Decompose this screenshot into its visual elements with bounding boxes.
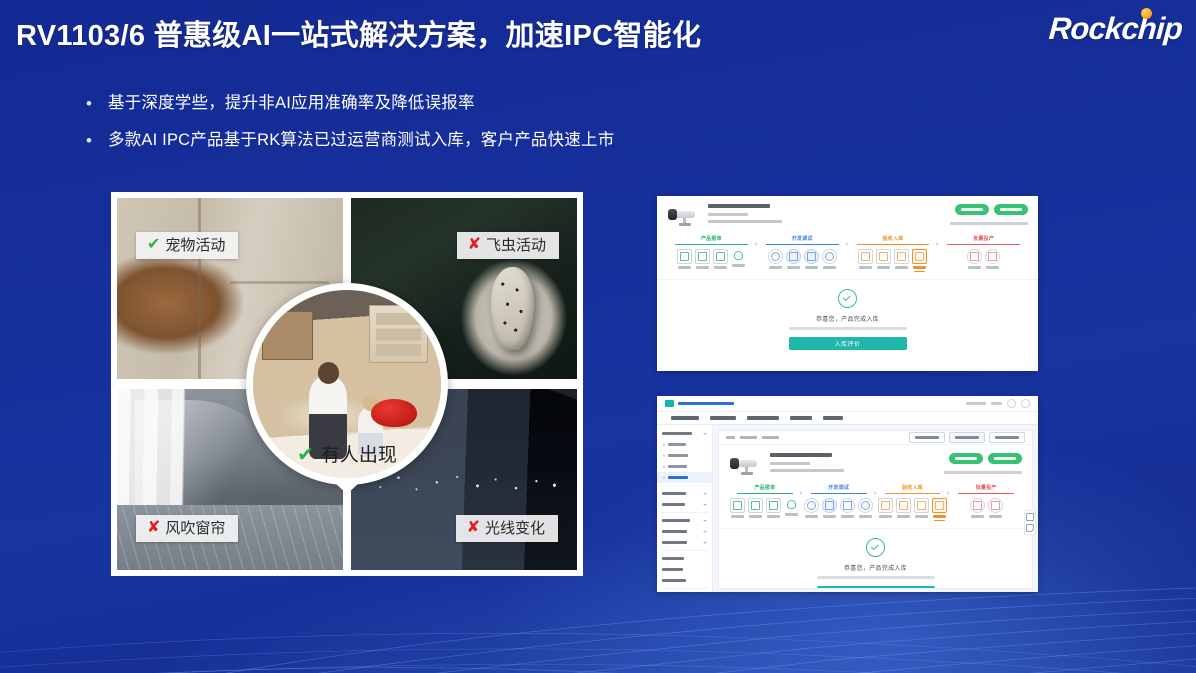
product-actions <box>938 453 1022 477</box>
label-text: 风吹窗帘 <box>165 521 225 536</box>
status-title: 恭喜您，产品完成入库 <box>844 563 907 572</box>
status-subtitle <box>789 327 907 330</box>
circle-notch <box>335 483 359 494</box>
sidebar-group-operations[interactable] <box>657 488 712 499</box>
breadcrumb-storage-center[interactable] <box>740 436 757 439</box>
center-highlight-circle: ✔ 有人出现 <box>246 283 448 485</box>
step-label: 产品报审 <box>737 484 793 494</box>
floating-tools[interactable] <box>1024 510 1036 535</box>
icon-product-storage[interactable] <box>932 498 947 521</box>
sidebar-group-device-service[interactable] <box>657 515 712 526</box>
scene-collage: ✔ 宠物活动 ✘ 飞虫活动 ✘ 风吹窗帘 ✘ 光线变化 <box>111 192 583 576</box>
step-label: 开发调试 <box>811 484 867 494</box>
screenshot-console[interactable]: 产品报审 开发调试 <box>657 396 1038 592</box>
product-header <box>657 196 1038 232</box>
nav-item-3[interactable] <box>790 416 812 419</box>
icon-sample-appraisal[interactable] <box>766 498 781 518</box>
bullet-text: 基于深度学些，提升非AI应用准确率及降低误报率 <box>108 93 475 114</box>
icon-joint-acceptance[interactable] <box>858 249 873 272</box>
step-mass-production[interactable]: 批量投产 <box>938 235 1029 272</box>
status-block: 恭喜您，产品完成入库 入库评价 <box>657 279 1038 350</box>
icon-barcode-apply[interactable] <box>970 498 985 518</box>
product-meta <box>701 204 944 228</box>
console-topbar <box>657 396 1038 412</box>
sidebar-group-data[interactable] <box>657 564 712 575</box>
nav-item-2[interactable] <box>747 416 779 419</box>
product-meta <box>763 453 938 477</box>
workflow-steps: 产品报审 开发调试 <box>657 235 1038 272</box>
sidebar-group-content[interactable] <box>657 553 712 564</box>
step-label: 验收入库 <box>857 235 930 245</box>
sidebar-group-statistics[interactable] <box>657 591 712 592</box>
breadcrumb <box>719 431 1032 445</box>
red-pillow <box>371 399 416 427</box>
label-text: 飞虫活动 <box>486 238 546 253</box>
sidebar-group-listing[interactable] <box>657 526 712 537</box>
bullet-marker: • <box>86 130 108 151</box>
step-acceptance-storage[interactable]: 验收入库 <box>876 484 950 521</box>
breadcrumb-home[interactable] <box>726 436 735 439</box>
packaging-materials-button[interactable] <box>988 453 1022 464</box>
sidebar-item-capability-center[interactable] <box>657 450 712 461</box>
product-actions <box>944 204 1028 228</box>
sidebar-group-access-service[interactable] <box>657 428 712 439</box>
icon-product-create[interactable] <box>804 498 819 518</box>
cross-icon: ✘ <box>468 237 481 253</box>
ip-camera-icon <box>667 206 701 228</box>
user-center-link[interactable] <box>966 402 986 405</box>
check-circle-icon <box>866 538 885 557</box>
breadcrumb-product-detail <box>762 436 779 439</box>
cross-icon: ✘ <box>147 520 160 536</box>
help-icon[interactable] <box>1021 399 1030 408</box>
sidebar-group-maintenance[interactable] <box>657 575 712 586</box>
logo-dot-icon <box>1141 8 1152 19</box>
icon-sample-appraisal[interactable] <box>713 249 728 269</box>
label-pet-activity: ✔ 宠物活动 <box>136 232 238 259</box>
check-circle-icon <box>838 289 857 308</box>
phone-icon[interactable] <box>1026 524 1034 532</box>
console-sidebar <box>657 425 713 592</box>
icon-app-config[interactable] <box>822 498 837 518</box>
icon-product-storage[interactable] <box>912 249 927 272</box>
back-to-product-button[interactable] <box>989 432 1025 443</box>
icon-joint-acceptance[interactable] <box>878 498 893 521</box>
icon-capability-appraisal[interactable] <box>840 498 855 518</box>
product-header <box>719 445 1032 481</box>
nav-item-4[interactable] <box>823 416 843 419</box>
created-time <box>944 471 1022 474</box>
list-item: • 基于深度学些，提升非AI应用准确率及降低误报率 <box>86 93 614 114</box>
page-title: RV1103/6 普惠级AI一站式解决方案，加速IPC智能化 <box>16 12 701 54</box>
icon-storage-review[interactable] <box>894 249 909 272</box>
app-name <box>678 402 734 406</box>
step-mass-production[interactable]: 批量投产 <box>949 484 1023 521</box>
workbench-link[interactable] <box>991 402 1002 405</box>
label-text: 宠物活动 <box>165 238 225 253</box>
step-label: 批量投产 <box>947 235 1020 245</box>
product-id <box>770 462 810 465</box>
bullet-list: • 基于深度学些，提升非AI应用准确率及降低误报率 • 多款AI IPC产品基于… <box>86 93 614 167</box>
label-wind-curtain: ✘ 风吹窗帘 <box>136 515 238 542</box>
bullet-marker: • <box>86 93 108 114</box>
bookshelf <box>262 311 313 360</box>
platform-logo-icon <box>665 400 674 407</box>
icon-capability-appraisal[interactable] <box>804 249 819 269</box>
step-label: 批量投产 <box>958 484 1014 494</box>
cabinet <box>369 305 427 363</box>
icon-material-submit[interactable] <box>730 498 745 518</box>
icon-material-submit[interactable] <box>677 249 692 269</box>
console-nav <box>657 412 1038 425</box>
document-icon[interactable] <box>1026 513 1034 521</box>
icon-material-verify[interactable] <box>695 249 710 269</box>
icon-storage-test[interactable] <box>876 249 891 272</box>
icon-material-verify[interactable] <box>748 498 763 518</box>
bell-icon[interactable] <box>1007 399 1016 408</box>
step-development-debug[interactable]: 开发调试 <box>757 235 848 272</box>
nav-item-0[interactable] <box>671 416 699 419</box>
created-time <box>950 222 1028 225</box>
ip-camera-icon <box>729 455 763 477</box>
label-light-change: ✘ 光线变化 <box>456 515 558 542</box>
icon-production-entry[interactable] <box>988 498 1003 518</box>
step-product-review[interactable]: 产品报审 <box>666 235 757 272</box>
step-label: 产品报审 <box>675 235 748 245</box>
bullet-text: 多款AI IPC产品基于RK算法已过运营商测试入库，客户产品快速上市 <box>108 130 614 151</box>
icon-storage-review[interactable] <box>914 498 929 521</box>
product-title <box>770 453 832 457</box>
icon-barcode-apply[interactable] <box>967 249 982 269</box>
check-icon: ✔ <box>147 237 160 253</box>
label-text: 有人出现 <box>321 446 397 465</box>
product-materials-button[interactable] <box>955 204 989 215</box>
product-title <box>708 204 770 208</box>
step-label: 验收入库 <box>885 484 941 494</box>
label-text: 光线变化 <box>485 521 545 536</box>
list-item: • 多款AI IPC产品基于RK算法已过运营商测试入库，客户产品快速上市 <box>86 130 614 151</box>
product-category <box>708 220 782 223</box>
icon-expert-review[interactable] <box>784 498 799 518</box>
slide-root: RV1103/6 普惠级AI一站式解决方案，加速IPC智能化 Rockchip … <box>0 0 1196 673</box>
step-development-debug[interactable]: 开发调试 <box>802 484 876 521</box>
step-acceptance-storage[interactable]: 验收入库 <box>848 235 939 272</box>
product-id <box>708 213 748 216</box>
label-insect-activity: ✘ 飞虫活动 <box>457 232 559 259</box>
sidebar-item-product-center[interactable] <box>657 461 712 472</box>
nav-item-1[interactable] <box>710 416 736 419</box>
icon-production-entry[interactable] <box>985 249 1000 269</box>
product-materials-button[interactable] <box>949 453 983 464</box>
icon-expert-review[interactable] <box>731 249 746 269</box>
storage-review-button[interactable]: 入库评价 <box>789 337 907 350</box>
export-list-button[interactable] <box>909 432 945 443</box>
rockchip-logo: Rockchip <box>1049 13 1182 44</box>
workflow-steps: 产品报审 开发调试 <box>719 484 1032 521</box>
sidebar-group-users[interactable] <box>657 499 712 510</box>
screenshot-product-detail[interactable]: 产品报审 开发调试 <box>657 196 1038 371</box>
check-icon: ✔ <box>297 445 314 465</box>
status-block: 恭喜您，产品完成入库 入库评价 <box>719 528 1032 589</box>
label-person-detected: ✔ 有人出现 <box>246 445 448 465</box>
status-subtitle <box>817 576 935 579</box>
step-label: 开发调试 <box>766 235 839 245</box>
icon-product-create[interactable] <box>768 249 783 269</box>
storage-review-button[interactable]: 入库评价 <box>817 586 935 589</box>
icon-storage-test[interactable] <box>896 498 911 521</box>
cross-icon: ✘ <box>467 520 480 536</box>
record-log-button[interactable] <box>949 432 985 443</box>
logo-wordmark: Rockchip <box>1048 13 1183 44</box>
icon-device-debug[interactable] <box>822 249 837 269</box>
step-product-review[interactable]: 产品报审 <box>728 484 802 521</box>
packaging-materials-button[interactable] <box>994 204 1028 215</box>
sidebar-group-process[interactable] <box>657 537 712 548</box>
icon-app-config[interactable] <box>786 249 801 269</box>
status-title: 恭喜您，产品完成入库 <box>816 314 879 323</box>
product-category <box>770 469 844 472</box>
sidebar-item-device-mgmt[interactable] <box>657 439 712 450</box>
icon-device-debug[interactable] <box>858 498 873 518</box>
console-content: 产品报审 开发调试 <box>713 425 1038 592</box>
sidebar-item-storage-center[interactable] <box>657 472 712 483</box>
